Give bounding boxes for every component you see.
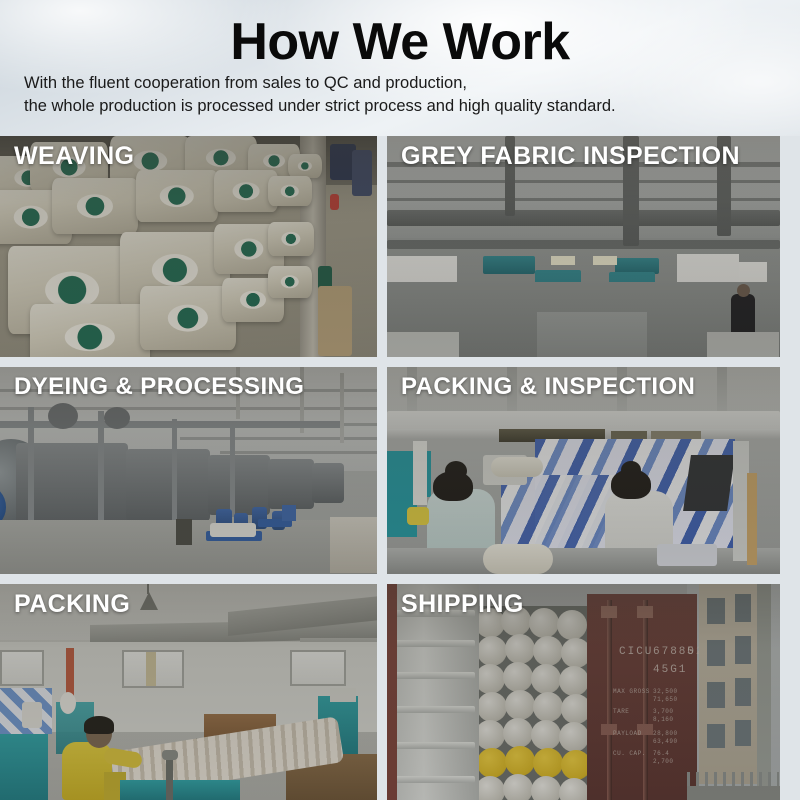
page-title: How We Work [0, 16, 800, 68]
panel-weaving[interactable]: WEAVING [0, 136, 377, 357]
header-subtitle: With the fluent cooperation from sales t… [24, 72, 616, 119]
panel-packing[interactable]: PACKING [0, 584, 377, 800]
process-grid: WEAVING [0, 136, 800, 800]
panel-packing-inspection[interactable]: PACKING & INSPECTION [387, 367, 780, 574]
panel-grey-fabric-inspection[interactable]: GREY FABRIC INSPECTION [387, 136, 780, 357]
panel-caption-packing-inspection: PACKING & INSPECTION [401, 374, 695, 400]
subtitle-line-2: the whole production is processed under … [24, 95, 616, 118]
panel-caption-dyeing-processing: DYEING & PROCESSING [14, 374, 304, 400]
panel-caption-shipping: SHIPPING [401, 591, 524, 619]
panel-caption-weaving: WEAVING [14, 143, 134, 171]
panel-caption-grey-fabric-inspection: GREY FABRIC INSPECTION [401, 143, 740, 171]
panel-dyeing-processing[interactable]: DYEING & PROCESSING [0, 367, 377, 574]
subtitle-line-1: With the fluent cooperation from sales t… [24, 74, 467, 92]
panel-shipping[interactable]: CICU 678802 5 45G1 MAX GROSS 32,500 71,6… [387, 584, 780, 800]
how-we-work-banner: How We Work With the fluent cooperation … [0, 0, 800, 800]
panel-caption-packing: PACKING [14, 591, 130, 619]
banner-header: How We Work With the fluent cooperation … [0, 0, 800, 136]
